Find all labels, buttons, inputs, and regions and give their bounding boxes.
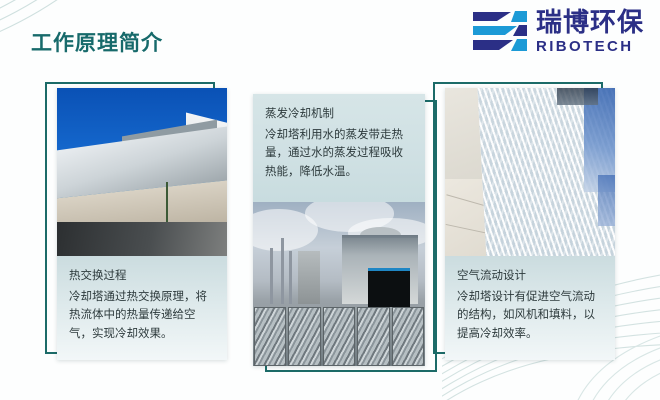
card-heading: 蒸发冷却机制 (265, 105, 413, 122)
card-text-panel: 空气流动设计 冷却塔设计有促进空气流动的结构，如风机和填料，以提高冷却效率。 (445, 256, 615, 360)
brand-logo: 瑞博环保 RIBOTECH (471, 9, 644, 55)
logo-text-block: 瑞博环保 RIBOTECH (536, 10, 644, 54)
page-title: 工作原理简介 (31, 33, 163, 54)
card-body: 蒸发冷却机制 冷却塔利用水的蒸发带走热量，通过水的蒸发过程吸收热能，降低水温。 (253, 94, 425, 366)
wrapped-crates (253, 307, 425, 366)
card-heading: 热交换过程 (69, 267, 215, 284)
logo-english-name: RIBOTECH (536, 39, 644, 54)
cooling-tower-plant-building-photo (57, 88, 227, 256)
card-body-text: 冷却塔设计有促进空气流动的结构，如风机和填料，以提高冷却效率。 (457, 287, 603, 343)
card-heading: 空气流动设计 (457, 267, 603, 284)
pvc-fill-packing-photo (445, 88, 615, 256)
card-body: 热交换过程 冷却塔通过热交换原理，将热流体中的热量传递给空气，实现冷却效果。 (57, 88, 227, 360)
card-body: 空气流动设计 冷却塔设计有促进空气流动的结构，如风机和填料，以提高冷却效率。 (445, 88, 615, 360)
card-air-flow-design[interactable]: 空气流动设计 冷却塔设计有促进空气流动的结构，如风机和填料，以提高冷却效率。 (445, 88, 615, 360)
card-evaporative-cooling[interactable]: 蒸发冷却机制 冷却塔利用水的蒸发带走热量，通过水的蒸发过程吸收热能，降低水温。 (253, 94, 425, 366)
card-text-panel: 热交换过程 冷却塔通过热交换原理，将热流体中的热量传递给空气，实现冷却效果。 (57, 256, 227, 360)
slide-root: 工作原理简介 瑞博环保 RIBOTECH (0, 0, 660, 400)
card-body-text: 冷却塔通过热交换原理，将热流体中的热量传递给空气，实现冷却效果。 (69, 287, 215, 343)
card-heat-exchange[interactable]: 热交换过程 冷却塔通过热交换原理，将热流体中的热量传递给空气，实现冷却效果。 (57, 88, 227, 360)
logo-chinese-name: 瑞博环保 (536, 10, 644, 36)
industrial-plant-crates-photo (253, 202, 425, 366)
card-text-panel: 蒸发冷却机制 冷却塔利用水的蒸发带走热量，通过水的蒸发过程吸收热能，降低水温。 (253, 94, 425, 202)
card-body-text: 冷却塔利用水的蒸发带走热量，通过水的蒸发过程吸收热能，降低水温。 (265, 125, 413, 181)
ribotech-logo-mark-icon (471, 9, 529, 55)
